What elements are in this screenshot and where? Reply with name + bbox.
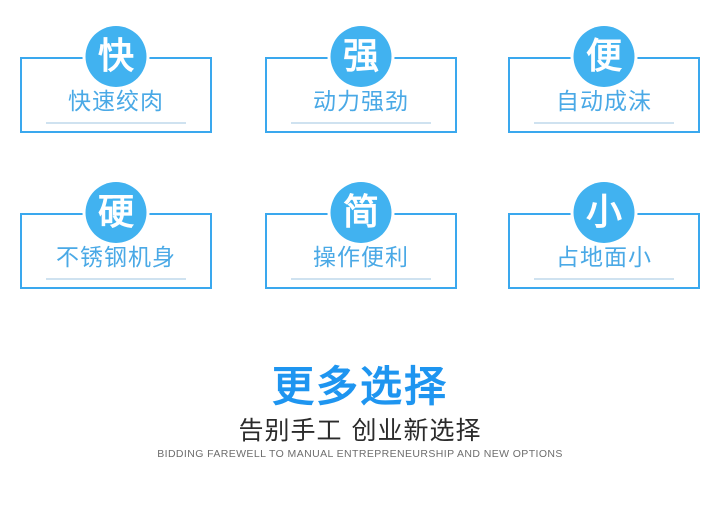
feature-underline bbox=[46, 278, 186, 280]
feature-badge-icon: 简 bbox=[331, 182, 392, 243]
feature-card-5[interactable]: 简 操作便利 bbox=[265, 213, 457, 289]
feature-card-4[interactable]: 硬 不锈钢机身 bbox=[20, 213, 212, 289]
feature-badge-icon: 小 bbox=[574, 182, 635, 243]
feature-badge-icon: 便 bbox=[574, 26, 635, 87]
feature-underline bbox=[291, 278, 431, 280]
feature-label: 不锈钢机身 bbox=[20, 247, 212, 270]
feature-grid: 快 快速绞肉 强 动力强劲 便 自动成沫 硬 不锈钢机身 简 操作便利 小 占地… bbox=[0, 0, 720, 300]
feature-underline bbox=[291, 122, 431, 124]
footer-headline: 更多选择 bbox=[0, 365, 720, 409]
feature-underline bbox=[534, 278, 674, 280]
feature-badge-icon: 硬 bbox=[86, 182, 147, 243]
feature-card-2[interactable]: 强 动力强劲 bbox=[265, 57, 457, 133]
feature-card-6[interactable]: 小 占地面小 bbox=[508, 213, 700, 289]
footer-caption: BIDDING FAREWELL TO MANUAL ENTREPRENEURS… bbox=[0, 449, 720, 461]
feature-label: 动力强劲 bbox=[265, 91, 457, 114]
feature-label: 占地面小 bbox=[508, 247, 700, 270]
feature-badge-icon: 快 bbox=[86, 26, 147, 87]
feature-card-3[interactable]: 便 自动成沫 bbox=[508, 57, 700, 133]
footer-subtitle: 告别手工 创业新选择 bbox=[0, 417, 720, 445]
feature-underline bbox=[534, 122, 674, 124]
feature-badge-icon: 强 bbox=[331, 26, 392, 87]
feature-label: 自动成沫 bbox=[508, 91, 700, 114]
feature-label: 操作便利 bbox=[265, 247, 457, 270]
feature-label: 快速绞肉 bbox=[20, 91, 212, 114]
feature-underline bbox=[46, 122, 186, 124]
feature-card-1[interactable]: 快 快速绞肉 bbox=[20, 57, 212, 133]
footer-section: 更多选择 告别手工 创业新选择 BIDDING FAREWELL TO MANU… bbox=[0, 365, 720, 460]
